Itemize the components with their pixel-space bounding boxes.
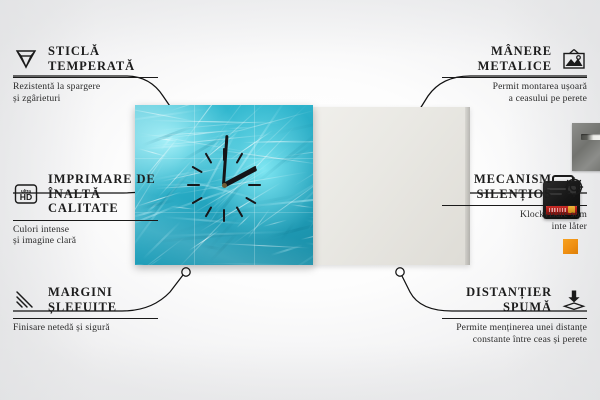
- callout-high-quality-print[interactable]: ultra HD IMPRIMARE DE ÎNALTĂ CALITATE Cu…: [13, 172, 158, 247]
- callout-title: STICLĂ TEMPERATĂ: [48, 44, 135, 73]
- clock-tick-mark: [205, 206, 213, 217]
- clock-dial: [135, 105, 313, 265]
- picture-hanger-icon: [561, 48, 587, 70]
- callout-subtitle: Permite menținerea unei distanțe constan…: [442, 322, 587, 345]
- callout-rule: [442, 318, 587, 319]
- diamond-icon: [13, 48, 39, 70]
- callout-title: DISTANȚIER SPUMĂ: [466, 285, 552, 314]
- callout-silent-mechanism[interactable]: MECANISM SILENȚIOS Klockvisare som inte …: [442, 172, 587, 232]
- callout-subtitle: Permit montarea ușoară a ceasului pe per…: [442, 81, 587, 104]
- callout-rule: [13, 318, 158, 319]
- callout-foam-spacer[interactable]: DISTANȚIER SPUMĂ Permite menținerea unei…: [442, 285, 587, 345]
- callout-tempered-glass[interactable]: STICLĂ TEMPERATĂ Rezistentă la spargere …: [13, 44, 158, 104]
- arrow-down-layers-icon: [561, 289, 587, 311]
- callout-polished-edges[interactable]: MARGINI ȘLEFUITE Finisare netedă și sigu…: [13, 285, 158, 334]
- product-image: [135, 105, 470, 273]
- foam-spacer-part: [563, 239, 581, 256]
- callout-subtitle: Rezistentă la spargere și zgârieturi: [13, 81, 158, 104]
- clock-front-face: [135, 105, 313, 265]
- callout-rule: [442, 205, 587, 206]
- callout-title: MECANISM SILENȚIOS: [474, 172, 552, 201]
- callout-title: IMPRIMARE DE ÎNALTĂ CALITATE: [48, 172, 158, 216]
- gear-icon: [561, 176, 587, 198]
- clock-center-pin: [222, 183, 227, 188]
- hanger-slot: [581, 134, 600, 140]
- callout-header: ultra HD IMPRIMARE DE ÎNALTĂ CALITATE: [13, 172, 158, 216]
- foam-spacer-pad: [563, 239, 578, 254]
- callout-header: STICLĂ TEMPERATĂ: [13, 44, 158, 73]
- ultra-hd-main-text: HD: [20, 192, 32, 202]
- clock-tick-mark: [191, 197, 202, 205]
- callout-rule: [13, 220, 158, 221]
- callout-header: MARGINI ȘLEFUITE: [13, 285, 158, 314]
- callout-metal-handles[interactable]: MÂNERE METALICE Permit montarea ușoară a…: [442, 44, 587, 104]
- ultra-hd-icon: ultra HD: [13, 183, 39, 205]
- clock-tick-mark: [205, 152, 213, 163]
- callout-header: MECANISM SILENȚIOS: [442, 172, 587, 201]
- infographic-canvas: STICLĂ TEMPERATĂ Rezistentă la spargere …: [0, 0, 600, 400]
- callout-subtitle: Klockvisare som inte låter: [442, 209, 587, 232]
- callout-header: DISTANȚIER SPUMĂ: [442, 285, 587, 314]
- diagonal-lines-icon: [13, 289, 39, 311]
- clock-tick-mark: [223, 209, 226, 222]
- callout-rule: [13, 77, 158, 78]
- callout-header: MÂNERE METALICE: [442, 44, 587, 73]
- callout-rule: [442, 77, 587, 78]
- callout-title: MÂNERE METALICE: [478, 44, 552, 73]
- clock-tick-mark: [191, 166, 202, 174]
- callout-subtitle: Finisare netedă și sigură: [13, 322, 158, 334]
- metal-hanger-part: [572, 123, 600, 171]
- callout-subtitle: Culori intense și imagine clară: [13, 224, 158, 247]
- clock-tick-mark: [187, 184, 200, 187]
- callout-title: MARGINI ȘLEFUITE: [48, 285, 117, 314]
